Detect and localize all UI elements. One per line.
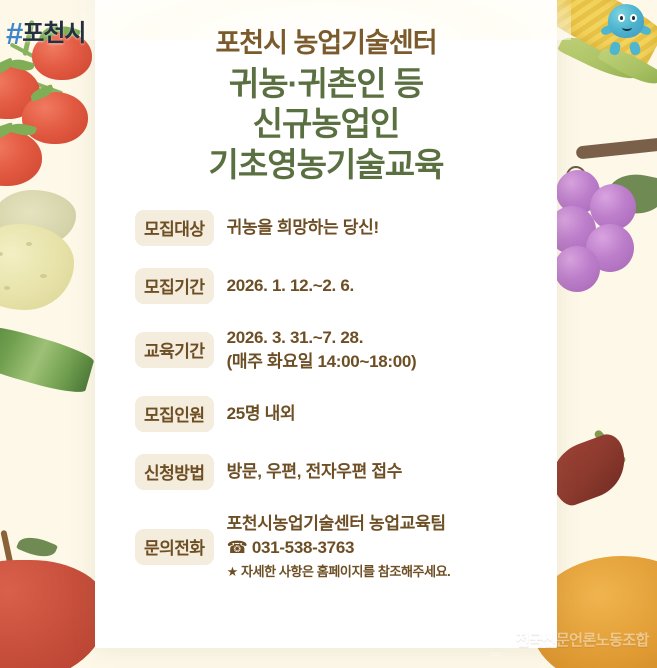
info-row-application-period: 모집기간 2026. 1. 12.~2. 6. — [135, 268, 531, 304]
hashtag-icon: # — [6, 18, 21, 49]
content-card: 포천시 농업기술센터 귀농·귀촌인 등 신규농업인 기초영농기술교육 모집대상 … — [95, 0, 557, 648]
info-value-target-text: 귀농을 희망하는 당신! — [227, 218, 379, 237]
info-value-how-to-apply: 방문, 우편, 전자우편 접수 — [227, 460, 403, 484]
brand-logo: # 포천시 — [6, 18, 86, 49]
info-value-application-period-text: 2026. 1. 12.~2. 6. — [227, 276, 354, 295]
mascot-character — [600, 2, 652, 56]
potato-illustration — [0, 190, 102, 320]
info-value-contact-team: 포천시농업기술센터 농업교육팀 — [227, 514, 446, 533]
info-value-capacity-text: 25명 내외 — [227, 404, 296, 423]
info-label-application-period: 모집기간 — [135, 268, 214, 304]
info-label-education-period: 교육기간 — [135, 332, 214, 368]
info-note-website: ★ 자세한 사항은 홈페이지를 참조해주세요. — [227, 563, 451, 581]
page-title-line3: 신규농업인 — [121, 105, 531, 143]
info-list: 모집대상 귀농을 희망하는 당신! 모집기간 2026. 1. 12.~2. 6… — [121, 210, 531, 582]
info-value-education-period: 2026. 3. 31.~7. 28. (매주 화요일 14:00~18:00) — [227, 326, 417, 374]
info-row-target: 모집대상 귀농을 희망하는 당신! — [135, 210, 531, 246]
info-value-target: 귀농을 희망하는 당신! — [227, 216, 379, 240]
info-value-how-to-apply-text: 방문, 우편, 전자우편 접수 — [227, 462, 403, 481]
page-title-line1: 포천시 농업기술센터 — [121, 28, 531, 59]
info-value-contact-phone: ☎ 031-538-3763 — [227, 536, 451, 560]
watermark-sub: KNU — [491, 652, 502, 658]
info-label-contact: 문의전화 — [135, 529, 214, 565]
page-title-line4: 기초영농기술교육 — [121, 146, 531, 184]
brand-name: 포천시 — [22, 22, 85, 46]
watermark: KNU 전국신문언론노동조합 — [491, 628, 649, 650]
union-mark-icon: KNU — [491, 628, 511, 650]
info-row-how-to-apply: 신청방법 방문, 우편, 전자우편 접수 — [135, 454, 531, 490]
chili-pepper-illustration — [548, 420, 657, 530]
cucumber-illustration — [0, 330, 106, 460]
poster-root: 포천시 농업기술센터 귀농·귀촌인 등 신규농업인 기초영농기술교육 모집대상 … — [0, 0, 657, 668]
page-title-line2: 귀농·귀촌인 등 — [121, 65, 531, 103]
info-label-target: 모집대상 — [135, 210, 214, 246]
info-value-contact: 포천시농업기술센터 농업교육팀 ☎ 031-538-3763 ★ 자세한 사항은… — [227, 512, 451, 582]
info-row-capacity: 모집인원 25명 내외 — [135, 396, 531, 432]
info-value-application-period: 2026. 1. 12.~2. 6. — [227, 274, 354, 298]
info-value-capacity: 25명 내외 — [227, 402, 296, 426]
info-label-capacity: 모집인원 — [135, 396, 214, 432]
watermark-text: 전국신문언론노동조합 — [516, 629, 649, 650]
info-row-education-period: 교육기간 2026. 3. 31.~7. 28. (매주 화요일 14:00~1… — [135, 326, 531, 374]
info-value-education-schedule: (매주 화요일 14:00~18:00) — [227, 350, 417, 374]
info-value-education-period-text: 2026. 3. 31.~7. 28. — [227, 328, 364, 347]
info-label-how-to-apply: 신청방법 — [135, 454, 214, 490]
info-row-contact: 문의전화 포천시농업기술센터 농업교육팀 ☎ 031-538-3763 ★ 자세… — [135, 512, 531, 582]
